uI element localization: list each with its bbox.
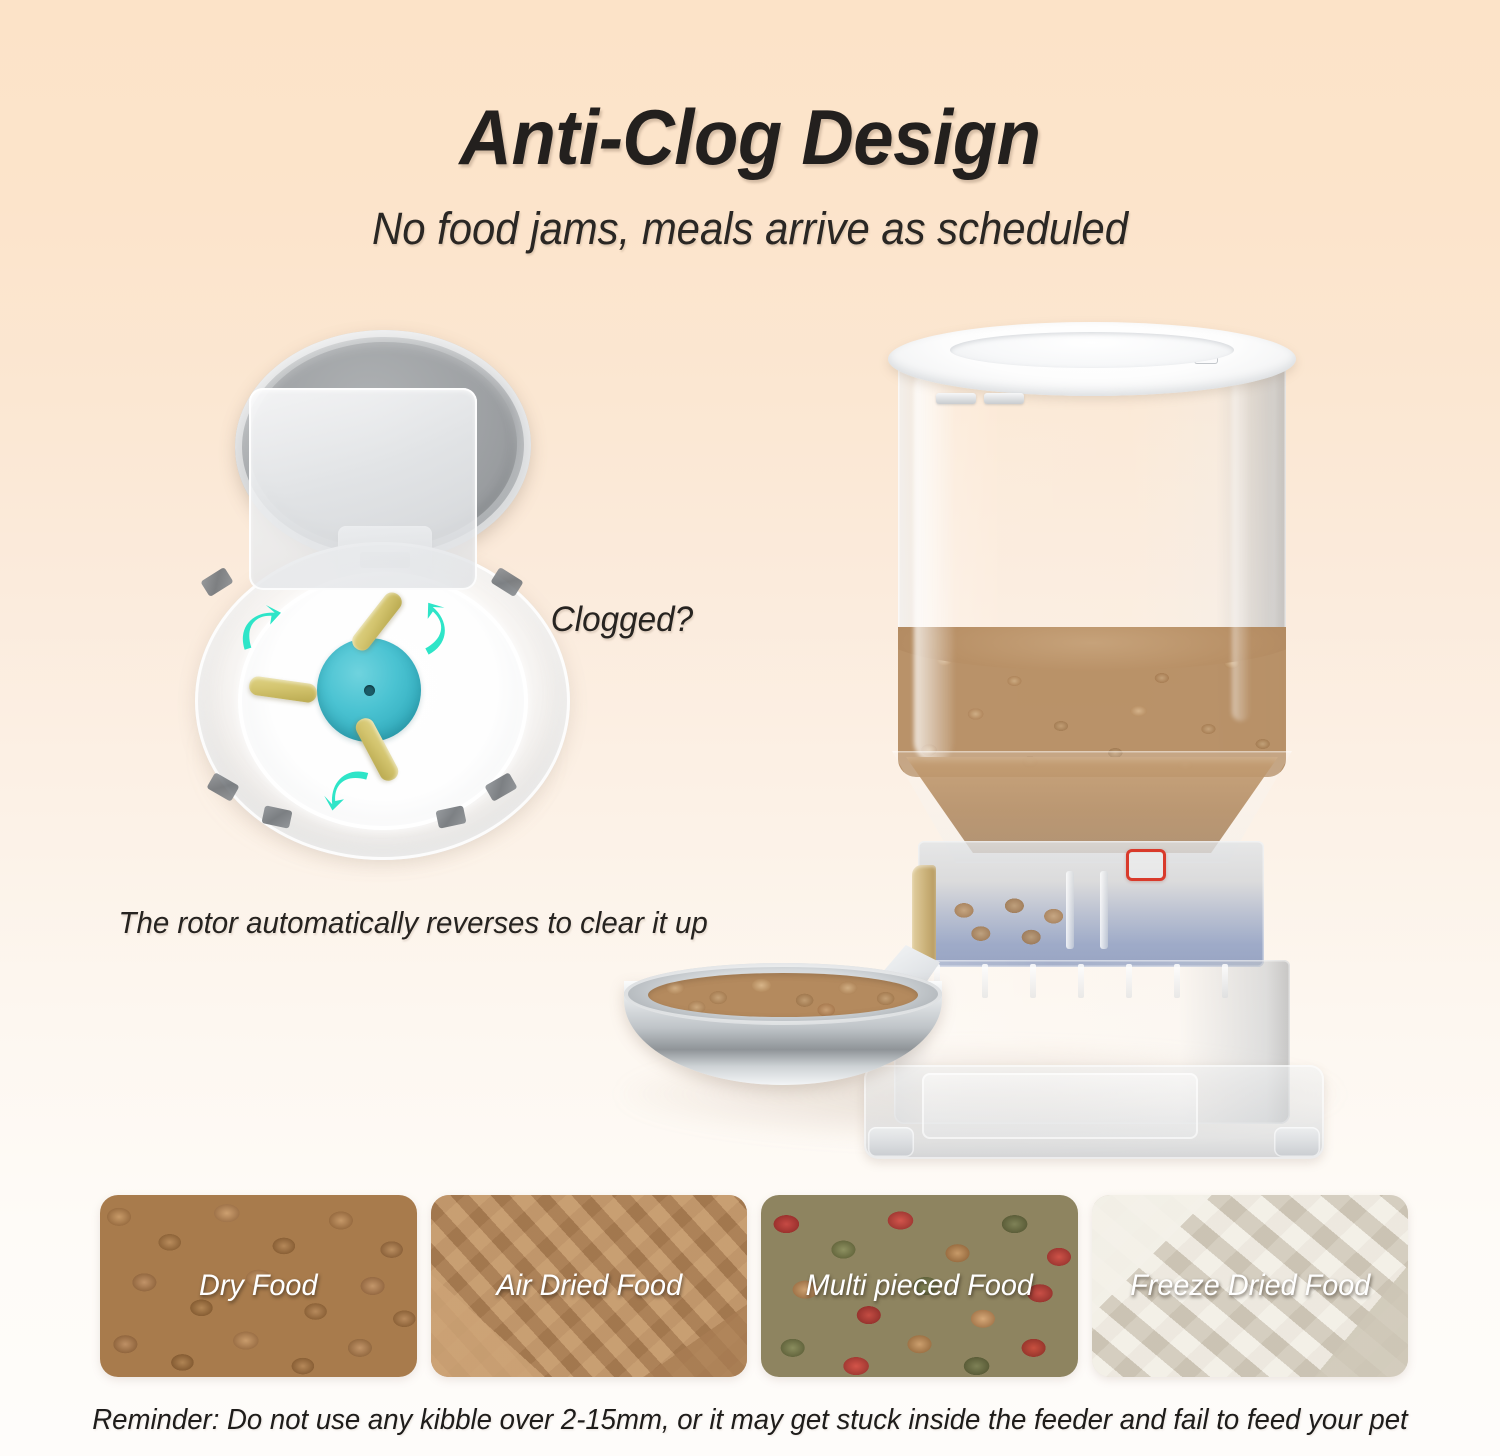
lid-latch-icon[interactable] [984,393,1024,404]
base-foot-icon [868,1127,914,1157]
food-type-card-multi-pieced: Multi pieced Food [761,1195,1078,1377]
food-type-label: Dry Food [106,1269,410,1303]
hopper-highlight [914,367,954,762]
chamber-tine [1078,964,1084,998]
food-type-label: Freeze Dried Food [1098,1269,1402,1303]
food-type-label: Multi pieced Food [767,1269,1071,1303]
mechanism-pillar [1066,871,1074,949]
mechanism-kibble [936,893,1076,951]
reminder-text: Reminder: Do not use any kibble over 2-1… [38,1404,1463,1437]
chamber-tine [1126,964,1132,998]
white-lid[interactable] [888,322,1296,396]
grip-pad-icon [200,567,233,597]
lid-button-icon[interactable] [1194,346,1218,364]
food-type-label: Air Dried Food [437,1269,741,1303]
bowl-kibble [648,973,918,1017]
lid-latch-icon[interactable] [936,393,976,404]
rotor-diagram [175,330,595,860]
food-type-card-list: Dry Food Air Dried Food Multi pieced Foo… [100,1195,1408,1377]
chamber-tine [982,964,988,998]
red-indicator-window [1126,849,1166,881]
automatic-pet-feeder [600,305,1360,1135]
hopper-highlight [1232,377,1250,721]
base-inner-frame [922,1073,1198,1139]
dispensing-mechanism [918,841,1264,967]
stainless-steel-bowl [624,963,942,1091]
rotor-tray-plate [249,388,477,590]
page-title: Anti-Clog Design [53,92,1448,183]
chamber-tine [1174,964,1180,998]
food-type-card-air-dried: Air Dried Food [431,1195,748,1377]
food-type-card-dry: Dry Food [100,1195,417,1377]
transparent-food-hopper [898,357,1286,777]
food-type-card-freeze-dried: Freeze Dried Food [1092,1195,1409,1377]
mechanism-pillar [1100,871,1108,949]
chamber-tine [1222,964,1228,998]
base-foot-icon [1274,1127,1320,1157]
chamber-tine [1030,964,1036,998]
page-subtitle: No food jams, meals arrive as scheduled [53,203,1448,255]
